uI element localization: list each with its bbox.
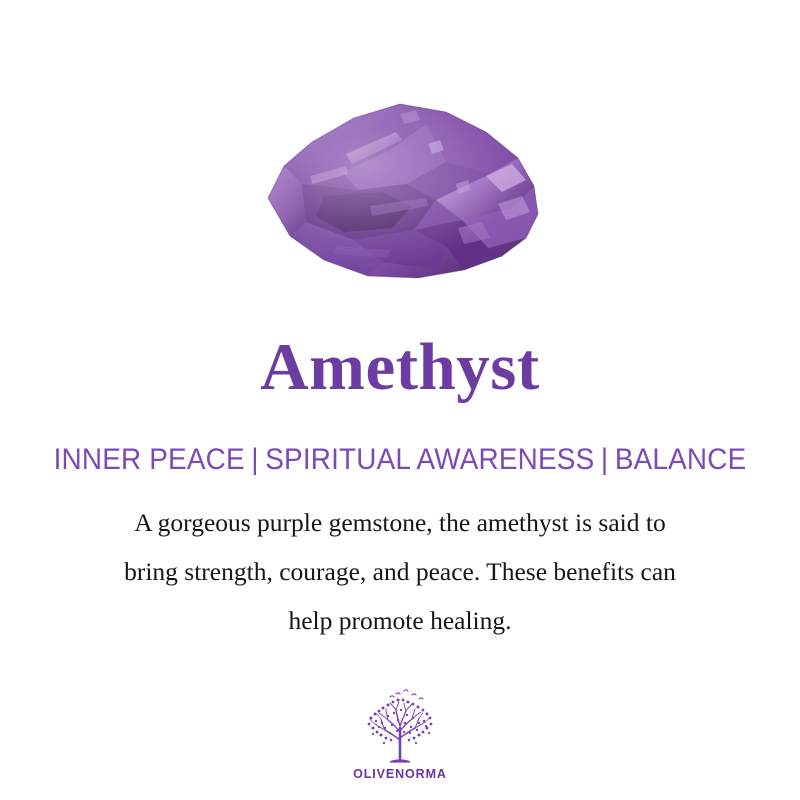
brand-logo: OLIVENORMA — [0, 688, 800, 781]
hero-image-area — [0, 60, 800, 320]
tagline-item-spiritual-awareness: SPIRITUAL AWARENESS — [265, 443, 594, 476]
page-title: Amethyst — [0, 334, 800, 401]
tagline-separator: | — [594, 443, 614, 476]
description-line: help promote healing. — [60, 596, 740, 645]
olive-tree-icon — [357, 688, 443, 766]
tagline-item-inner-peace: INNER PEACE — [54, 443, 245, 476]
description-text: A gorgeous purple gemstone, the amethyst… — [60, 498, 740, 645]
description-line: bring strength, courage, and peace. Thes… — [60, 547, 740, 596]
attributes-tagline: INNER PEACE|SPIRITUAL AWARENESS|BALANCE — [28, 443, 772, 476]
description-line: A gorgeous purple gemstone, the amethyst… — [60, 498, 740, 547]
brand-name: OLIVENORMA — [0, 767, 800, 781]
tagline-separator: | — [245, 443, 265, 476]
product-info-card: Amethyst INNER PEACE|SPIRITUAL AWARENESS… — [0, 0, 800, 800]
amethyst-crystal-icon — [250, 80, 550, 295]
amethyst-crystal-image — [250, 80, 550, 295]
tagline-item-balance: BALANCE — [615, 443, 747, 476]
